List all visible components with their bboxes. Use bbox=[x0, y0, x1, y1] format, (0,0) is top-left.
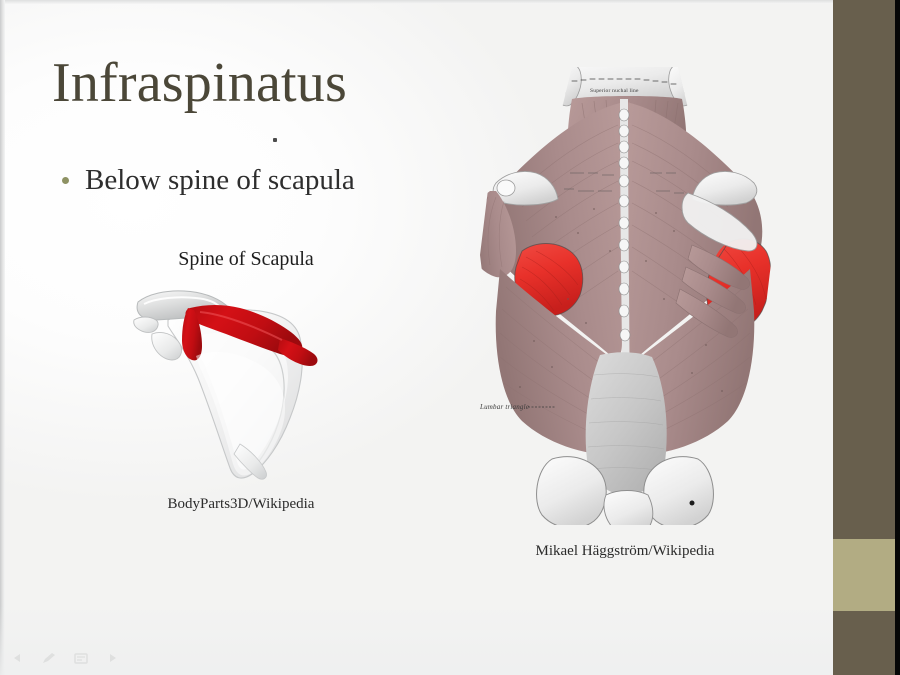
sacrum bbox=[604, 491, 653, 536]
viewer-right-edge bbox=[895, 0, 900, 675]
slide-canvas[interactable]: Infraspinatus Below spine of scapula Spi… bbox=[0, 0, 833, 675]
back-muscles-figure: Superior nuchal line Lumbar triangle Mik… bbox=[440, 55, 810, 575]
posterior-trunk-anatomy-image bbox=[460, 55, 790, 535]
presentation-toolbar[interactable] bbox=[8, 651, 122, 665]
presentation-viewer: Infraspinatus Below spine of scapula Spi… bbox=[0, 0, 900, 675]
slide-bottom-vignette bbox=[0, 605, 833, 675]
nuchal-line-annotation: Superior nuchal line bbox=[590, 88, 639, 94]
slide-top-edge bbox=[0, 0, 833, 4]
slide-menu-icon[interactable] bbox=[72, 651, 90, 665]
pen-icon[interactable] bbox=[40, 651, 58, 665]
scapula-coracoid bbox=[134, 317, 158, 332]
previous-slide-icon[interactable] bbox=[8, 651, 26, 665]
back-figure-credit: Mikael Häggström/Wikipedia bbox=[440, 543, 810, 560]
left-ilium bbox=[537, 457, 607, 528]
right-ilium bbox=[644, 457, 714, 528]
slide-title: Infraspinatus bbox=[52, 54, 347, 113]
scapula-figure-label: Spine of Scapula bbox=[136, 248, 356, 271]
ilium-foramen bbox=[690, 501, 695, 506]
scapula-figure: Spine of Scapula bbox=[120, 240, 370, 530]
bullet-list-item: Below spine of scapula bbox=[62, 163, 355, 198]
scapula-3d-image bbox=[130, 278, 340, 483]
scapula-figure-credit: BodyParts3D/Wikipedia bbox=[116, 496, 366, 513]
next-slide-icon[interactable] bbox=[104, 651, 122, 665]
stray-mark bbox=[273, 138, 277, 142]
bullet-item-label: Below spine of scapula bbox=[85, 163, 355, 198]
bullet-dot-icon bbox=[62, 177, 69, 184]
slide-left-edge bbox=[0, 0, 5, 675]
lumbar-triangle-annotation: Lumbar triangle bbox=[480, 403, 529, 411]
presentation-sidebar-progress[interactable] bbox=[833, 539, 895, 611]
left-acromion bbox=[497, 180, 515, 196]
